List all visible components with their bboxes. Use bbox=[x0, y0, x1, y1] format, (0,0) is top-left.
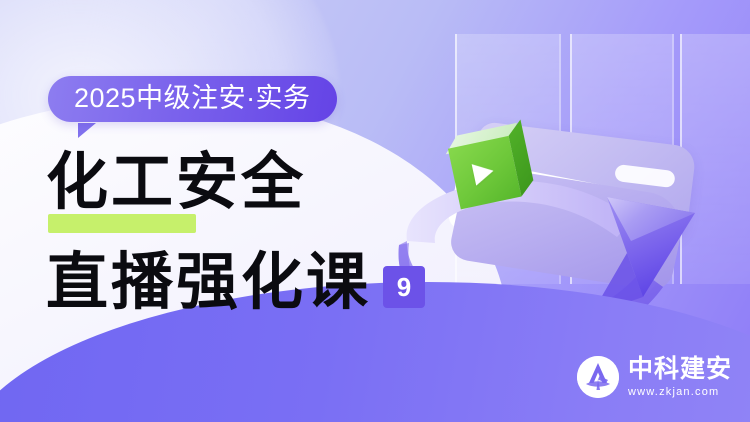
play-cube-icon bbox=[448, 133, 538, 223]
page-title-line2-row: 直播强化课 9 bbox=[46, 252, 425, 314]
episode-number-badge: 9 bbox=[383, 266, 425, 308]
course-badge: 2025中级注安·实务 bbox=[48, 76, 337, 122]
page-title-line1: 化工安全 bbox=[46, 152, 306, 215]
page-title-line2: 直播强化课 bbox=[46, 252, 371, 314]
course-promo-banner: 2025中级注安·实务 化工安全 直播强化课 9 中科建安 www.zkjan.… bbox=[0, 0, 750, 422]
brand-logo[interactable]: 中科建安 www.zkjan.com bbox=[577, 356, 732, 398]
logo-website-url: www.zkjan.com bbox=[628, 387, 732, 398]
logo-mark-icon bbox=[577, 356, 619, 398]
logo-text-block: 中科建安 www.zkjan.com bbox=[628, 357, 732, 398]
badge-tail-icon bbox=[78, 123, 96, 138]
logo-company-name: 中科建安 bbox=[628, 357, 732, 382]
play-triangle-icon bbox=[472, 160, 496, 186]
cube-front-face bbox=[448, 136, 522, 210]
